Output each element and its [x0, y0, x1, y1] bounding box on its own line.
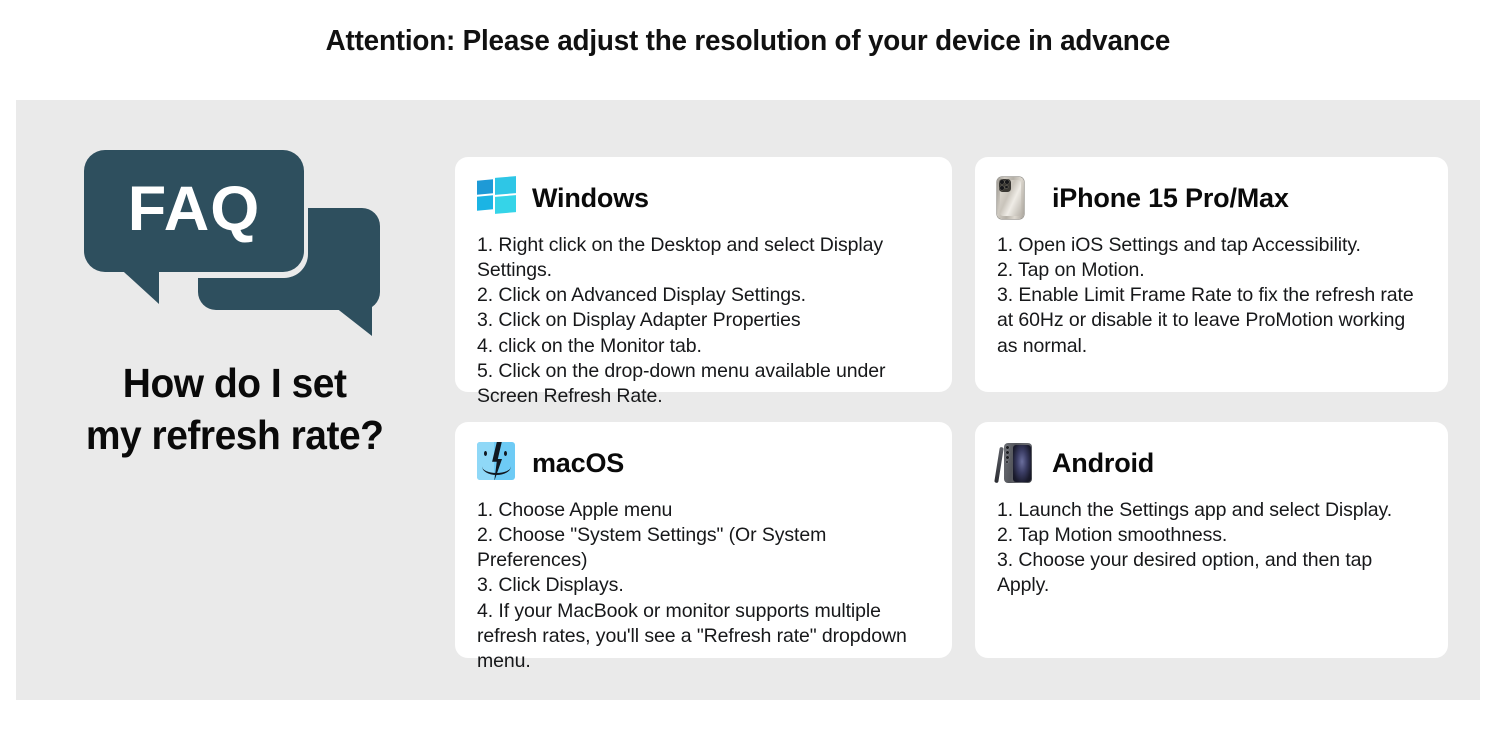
list-item: 1. Open iOS Settings and tap Accessibili… — [997, 233, 1426, 258]
card-macos-title: macOS — [532, 448, 624, 479]
list-item: 2. Choose "System Settings" (Or System P… — [477, 523, 930, 573]
list-item: 5. Click on the drop-down menu available… — [477, 359, 930, 409]
list-item: 3. Choose your desired option, and then … — [997, 548, 1426, 598]
faq-question: How do I set my refresh rate? — [86, 358, 384, 461]
list-item: 3. Enable Limit Frame Rate to fix the re… — [997, 283, 1426, 358]
list-item: 1. Right click on the Desktop and select… — [477, 233, 930, 283]
card-iphone-title: iPhone 15 Pro/Max — [1052, 183, 1289, 214]
faq-question-line-2: my refresh rate? — [86, 410, 384, 462]
speech-bubbles-graphic: FAQ — [80, 150, 390, 340]
iphone-device-icon — [997, 177, 1039, 219]
list-item: 4. click on the Monitor tab. — [477, 334, 930, 359]
card-macos-steps: 1. Choose Apple menu 2. Choose "System S… — [477, 498, 930, 674]
card-windows: Windows 1. Right click on the Desktop an… — [455, 157, 952, 392]
card-android-title: Android — [1052, 448, 1154, 479]
card-iphone-header: iPhone 15 Pro/Max — [997, 176, 1426, 220]
card-macos: macOS 1. Choose Apple menu 2. Choose "Sy… — [455, 422, 952, 658]
speech-bubble-back-tail-icon — [312, 300, 372, 336]
faq-badge-label: FAQ — [128, 173, 261, 245]
list-item: 4. If your MacBook or monitor supports m… — [477, 599, 930, 674]
list-item: 3. Click Displays. — [477, 573, 930, 598]
faq-question-line-1: How do I set — [86, 358, 384, 410]
list-item: 2. Tap on Motion. — [997, 258, 1426, 283]
card-android-header: Android — [997, 441, 1426, 485]
stylus-icon — [994, 447, 1004, 483]
card-windows-header: Windows — [477, 176, 930, 220]
windows-logo-icon — [477, 177, 519, 219]
list-item: 2. Click on Advanced Display Settings. — [477, 283, 930, 308]
list-item: 1. Launch the Settings app and select Di… — [997, 498, 1426, 523]
card-android-steps: 1. Launch the Settings app and select Di… — [997, 498, 1426, 599]
card-iphone-steps: 1. Open iOS Settings and tap Accessibili… — [997, 233, 1426, 359]
card-macos-header: macOS — [477, 441, 930, 485]
card-android: Android 1. Launch the Settings app and s… — [975, 422, 1448, 658]
list-item: 1. Choose Apple menu — [477, 498, 930, 523]
headline-banner: Attention: Please adjust the resolution … — [0, 0, 1496, 100]
android-device-icon — [997, 442, 1039, 484]
speech-bubble-front-icon: FAQ — [84, 150, 304, 272]
list-item: 3. Click on Display Adapter Properties — [477, 308, 930, 333]
card-iphone: iPhone 15 Pro/Max 1. Open iOS Settings a… — [975, 157, 1448, 392]
finder-face-icon — [477, 442, 519, 484]
card-windows-title: Windows — [532, 183, 649, 214]
list-item: 2. Tap Motion smoothness. — [997, 523, 1426, 548]
card-windows-steps: 1. Right click on the Desktop and select… — [477, 233, 930, 409]
page-title: Attention: Please adjust the resolution … — [326, 25, 1171, 58]
faq-block: FAQ How do I set my refresh rate? — [40, 150, 430, 570]
